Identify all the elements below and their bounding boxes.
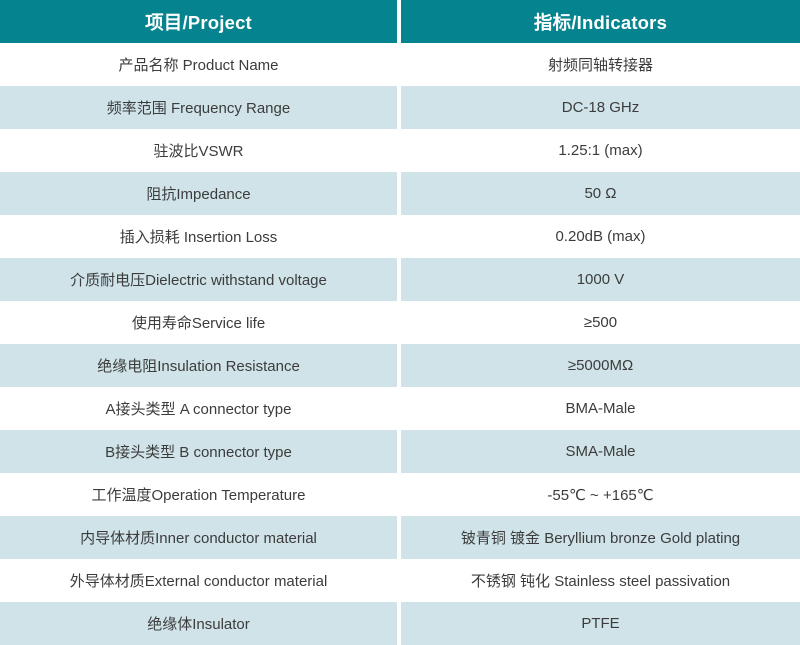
cell-indicator: 50 Ω (401, 172, 800, 215)
cell-indicator: 1.25:1 (max) (401, 129, 800, 172)
cell-indicator: 不锈钢 钝化 Stainless steel passivation (401, 559, 800, 602)
table-body: 产品名称 Product Name射频同轴转接器频率范围 Frequency R… (0, 43, 800, 645)
cell-project: 驻波比VSWR (0, 129, 401, 172)
table-row: 使用寿命Service life≥500 (0, 301, 800, 344)
cell-project: 使用寿命Service life (0, 301, 401, 344)
cell-indicator: ≥5000MΩ (401, 344, 800, 387)
cell-project: 插入损耗 Insertion Loss (0, 215, 401, 258)
cell-project: 介质耐电压Dielectric withstand voltage (0, 258, 401, 301)
table-row: 驻波比VSWR1.25:1 (max) (0, 129, 800, 172)
column-header-indicator: 指标/Indicators (401, 0, 800, 43)
cell-project: 工作温度Operation Temperature (0, 473, 401, 516)
table-header: 项目/Project 指标/Indicators (0, 0, 800, 43)
cell-indicator: DC-18 GHz (401, 86, 800, 129)
specification-table: 项目/Project 指标/Indicators 产品名称 Product Na… (0, 0, 800, 645)
cell-project: A接头类型 A connector type (0, 387, 401, 430)
cell-project: 频率范围 Frequency Range (0, 86, 401, 129)
cell-project: 绝缘电阻Insulation Resistance (0, 344, 401, 387)
table-row: 绝缘体InsulatorPTFE (0, 602, 800, 645)
cell-indicator: -55℃ ~ +165℃ (401, 473, 800, 516)
cell-indicator: BMA-Male (401, 387, 800, 430)
cell-indicator: PTFE (401, 602, 800, 645)
table-row: 外导体材质External conductor material不锈钢 钝化 S… (0, 559, 800, 602)
column-header-project: 项目/Project (0, 0, 401, 43)
table-row: A接头类型 A connector typeBMA-Male (0, 387, 800, 430)
table-row: 产品名称 Product Name射频同轴转接器 (0, 43, 800, 86)
table-row: 绝缘电阻Insulation Resistance≥5000MΩ (0, 344, 800, 387)
cell-indicator: 0.20dB (max) (401, 215, 800, 258)
cell-indicator: 射频同轴转接器 (401, 43, 800, 86)
cell-project: 内导体材质Inner conductor material (0, 516, 401, 559)
table-row: 工作温度Operation Temperature-55℃ ~ +165℃ (0, 473, 800, 516)
cell-project: 产品名称 Product Name (0, 43, 401, 86)
cell-indicator: SMA-Male (401, 430, 800, 473)
cell-indicator: 铍青铜 镀金 Beryllium bronze Gold plating (401, 516, 800, 559)
cell-project: 绝缘体Insulator (0, 602, 401, 645)
cell-project: 外导体材质External conductor material (0, 559, 401, 602)
table-row: 介质耐电压Dielectric withstand voltage1000 V (0, 258, 800, 301)
cell-project: 阻抗Impedance (0, 172, 401, 215)
cell-indicator: 1000 V (401, 258, 800, 301)
table-row: 频率范围 Frequency RangeDC-18 GHz (0, 86, 800, 129)
table-row: 插入损耗 Insertion Loss0.20dB (max) (0, 215, 800, 258)
table-row: B接头类型 B connector typeSMA-Male (0, 430, 800, 473)
cell-indicator: ≥500 (401, 301, 800, 344)
cell-project: B接头类型 B connector type (0, 430, 401, 473)
table-header-row: 项目/Project 指标/Indicators (0, 0, 800, 43)
table-row: 内导体材质Inner conductor material铍青铜 镀金 Bery… (0, 516, 800, 559)
table-row: 阻抗Impedance50 Ω (0, 172, 800, 215)
